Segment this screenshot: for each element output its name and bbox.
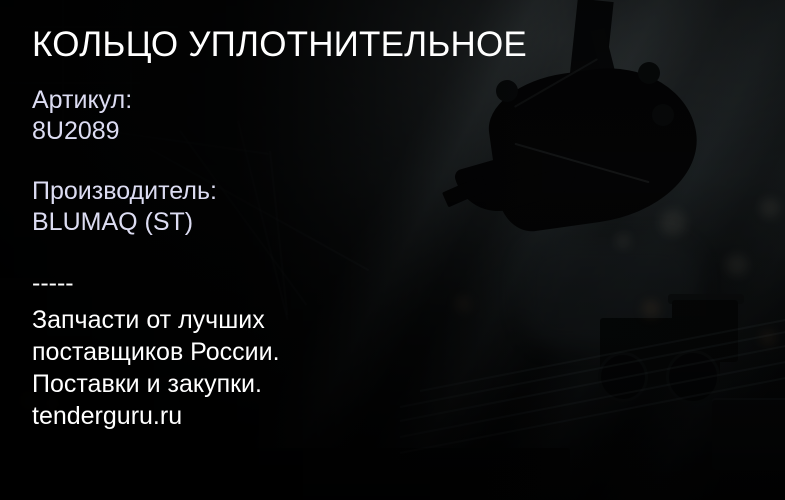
site-url[interactable]: tenderguru.ru: [32, 400, 280, 432]
manufacturer-label: Производитель:: [32, 177, 217, 205]
manufacturer-field: Производитель: BLUMAQ (ST): [32, 176, 217, 238]
banner-content: КОЛЬЦО УПЛОТНИТЕЛЬНОЕ Артикул: 8U2089 Пр…: [32, 0, 592, 500]
product-title: КОЛЬЦО УПЛОТНИТЕЛЬНОЕ: [32, 24, 527, 66]
tagline-block: Запчасти от лучших поставщиков России. П…: [32, 304, 280, 432]
manufacturer-value: BLUMAQ (ST): [32, 207, 217, 238]
divider-dashes: -----: [32, 268, 74, 299]
article-value: 8U2089: [32, 116, 132, 147]
article-field: Артикул: 8U2089: [32, 85, 132, 147]
tagline-line-2: поставщиков России.: [32, 336, 280, 368]
article-label: Артикул:: [32, 86, 132, 114]
tagline-line-3: Поставки и закупки.: [32, 368, 280, 400]
product-banner: КОЛЬЦО УПЛОТНИТЕЛЬНОЕ Артикул: 8U2089 Пр…: [0, 0, 785, 500]
tagline-line-1: Запчасти от лучших: [32, 304, 280, 336]
